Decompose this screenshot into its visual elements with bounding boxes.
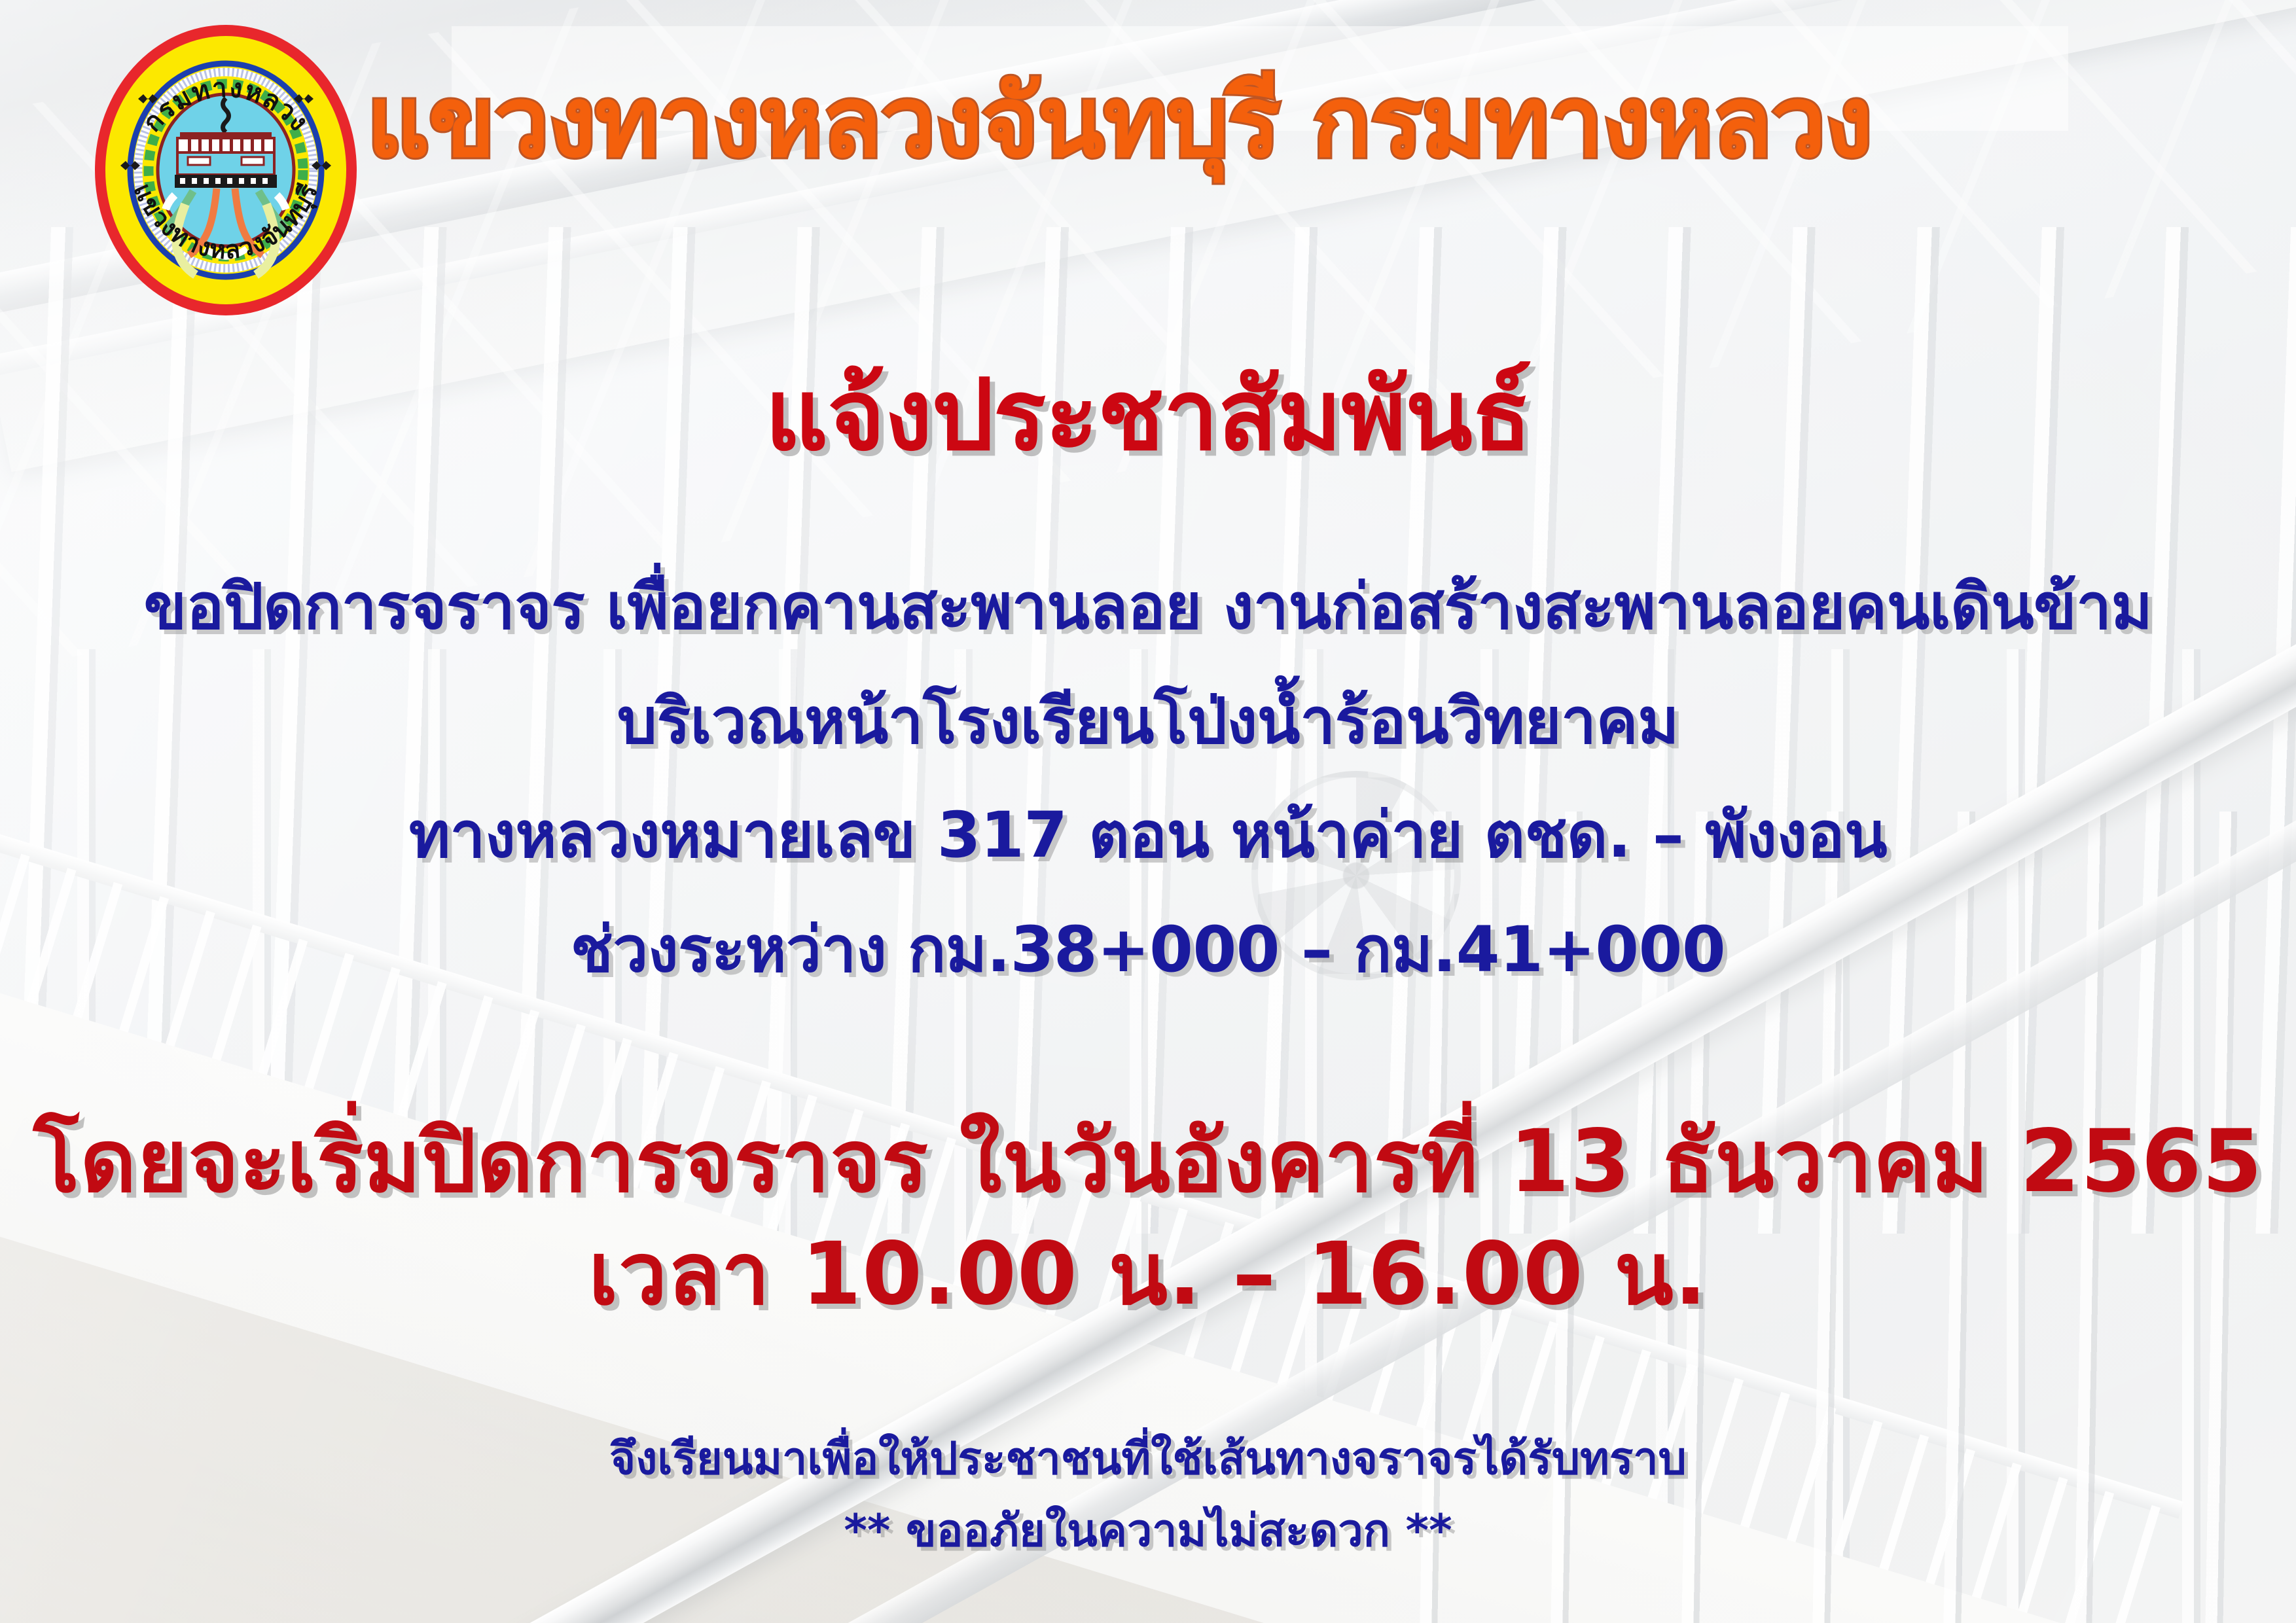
announcement-footer: จึงเรียนมาเพื่อให้ประชาชนที่ใช้เส้นทางจร… xyxy=(0,1423,2296,1567)
body-line-1: ขอปิดการจราจร เพื่อยกคานสะพานลอย งานก่อส… xyxy=(0,550,2296,664)
body-line-3: ทางหลวงหมายเลข 317 ตอน หน้าค่าย ตชด. – พ… xyxy=(0,778,2296,893)
closure-schedule: โดยจะเริ่มปิดการจราจร ในวันอังคารที่ 13 … xyxy=(0,1106,2296,1330)
poster-content: แขวงทางหลวงจันทบุรี กรมทางหลวง แจ้งประชา… xyxy=(0,0,2296,1623)
body-line-4: ช่วงระหว่าง กม.38+000 – กม.41+000 xyxy=(0,893,2296,1007)
body-line-2: บริเวณหน้าโรงเรียนโป่งน้ำร้อนวิทยาคม xyxy=(0,664,2296,779)
organization-title: แขวงทางหลวงจันทบุรี กรมทางหลวง xyxy=(367,73,2081,171)
announcement-body: ขอปิดการจราจร เพื่อยกคานสะพานลอย งานก่อส… xyxy=(0,550,2296,1007)
announcement-poster: กรมทางหลวง แขวงทางหลวงจันทบุรี แขวงทางหล… xyxy=(0,0,2296,1623)
footer-line-1: จึงเรียนมาเพื่อให้ประชาชนที่ใช้เส้นทางจร… xyxy=(0,1423,2296,1495)
footer-line-2: ** ขออภัยในความไม่สะดวก ** xyxy=(0,1495,2296,1567)
closure-date-line: โดยจะเริ่มปิดการจราจร ในวันอังคารที่ 13 … xyxy=(0,1106,2296,1219)
announcement-headline: แจ้งประชาสัมพันธ์ xyxy=(0,366,2296,465)
closure-time-line: เวลา 10.00 น. – 16.00 น. xyxy=(0,1219,2296,1331)
